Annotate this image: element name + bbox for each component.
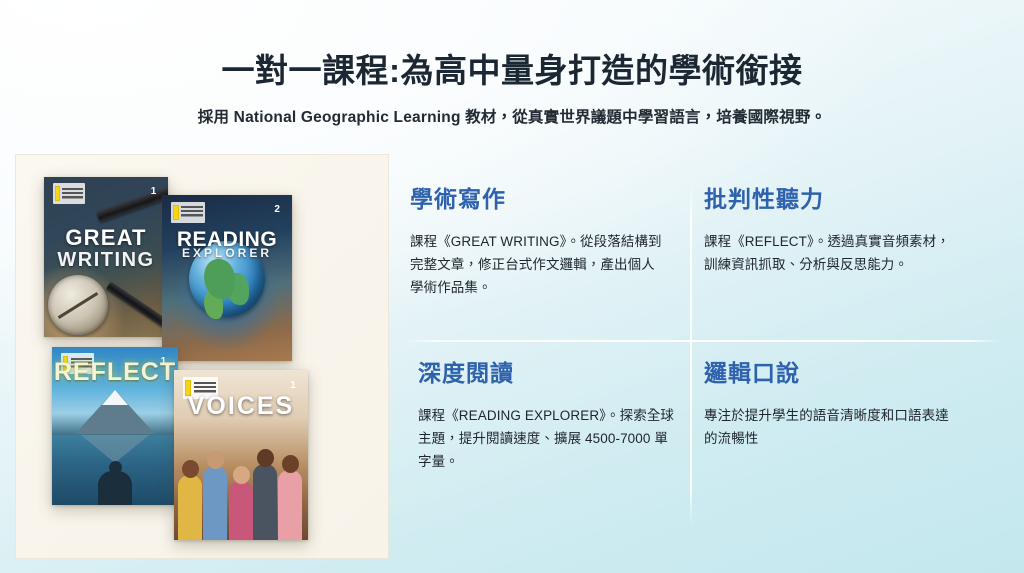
book-level-badge: 1 bbox=[147, 184, 161, 199]
book-cover-reflect: 1 REFLECT bbox=[52, 347, 178, 505]
book-title: VOICES bbox=[174, 392, 308, 421]
person-figure bbox=[278, 470, 302, 540]
slide-header: 一對一課程:為高中量身打造的學術銜接 採用 National Geographi… bbox=[0, 0, 1024, 129]
logo-text-lines bbox=[62, 188, 83, 200]
logo-text-lines bbox=[181, 206, 203, 218]
person-figure bbox=[253, 464, 277, 540]
feature-body: 課程《REFLECT》。透過真實音頻素材，訓練資訊抓取、分析與反思能力。 bbox=[704, 230, 962, 276]
people-group-illustration bbox=[174, 435, 308, 540]
feature-heading: 批判性聽力 bbox=[704, 186, 962, 214]
person-figure bbox=[178, 475, 202, 540]
feature-body: 專注於提升學生的語音清晰度和口語表達的流暢性 bbox=[704, 404, 962, 450]
book-cover-reading-explorer: 2 READING EXPLORER bbox=[162, 195, 292, 361]
vertical-divider bbox=[690, 182, 692, 526]
feature-grid: 學術寫作 課程《GREAT WRITING》。從段落結構到完整文章，修正台式作文… bbox=[404, 178, 1010, 528]
book-cover-great-writing: 1 GREAT WRITING bbox=[44, 177, 168, 337]
book-cover-voices: 1 VOICES bbox=[174, 370, 308, 540]
compass-icon bbox=[48, 275, 108, 335]
feature-heading: 學術寫作 bbox=[410, 186, 668, 214]
book-level-badge: 1 bbox=[286, 378, 300, 393]
books-panel: 1 GREAT WRITING 2 READING EXPLORER 1 REF… bbox=[16, 155, 388, 558]
book-level-badge: 2 bbox=[270, 202, 284, 217]
feature-deep-reading: 深度閱讀 課程《READING EXPLORER》。探索全球主題，提升閱讀速度、… bbox=[418, 360, 676, 473]
feature-logical-speaking: 邏輯口說 專注於提升學生的語音清晰度和口語表達的流暢性 bbox=[704, 360, 962, 450]
pen-icon bbox=[106, 282, 168, 332]
mountain-peak-icon bbox=[102, 390, 128, 405]
book-title: GREAT bbox=[44, 225, 168, 251]
book-title: REFLECT bbox=[52, 358, 178, 387]
book-subtitle: WRITING bbox=[44, 249, 168, 272]
hiker-silhouette-icon bbox=[98, 471, 132, 505]
feature-critical-listening: 批判性聽力 課程《REFLECT》。透過真實音頻素材，訓練資訊抓取、分析與反思能… bbox=[704, 186, 962, 276]
feature-body: 課程《GREAT WRITING》。從段落結構到完整文章，修正台式作文邏輯，產出… bbox=[410, 230, 668, 300]
national-geographic-logo-icon bbox=[53, 183, 85, 204]
feature-body: 課程《READING EXPLORER》。探索全球主題，提升閱讀速度、擴展 45… bbox=[418, 404, 676, 474]
person-figure bbox=[203, 466, 227, 540]
page-title: 一對一課程:為高中量身打造的學術銜接 bbox=[0, 0, 1024, 92]
feature-heading: 邏輯口說 bbox=[704, 360, 962, 388]
feature-heading: 深度閱讀 bbox=[418, 360, 676, 388]
book-subtitle: EXPLORER bbox=[162, 246, 292, 260]
page-subtitle: 採用 National Geographic Learning 教材，從真實世界… bbox=[0, 92, 1024, 129]
national-geographic-logo-icon bbox=[171, 202, 205, 224]
horizontal-divider bbox=[404, 340, 1002, 342]
slide-root: 一對一課程:為高中量身打造的學術銜接 採用 National Geographi… bbox=[0, 0, 1024, 573]
feature-academic-writing: 學術寫作 課程《GREAT WRITING》。從段落結構到完整文章，修正台式作文… bbox=[410, 186, 668, 299]
person-figure bbox=[229, 481, 253, 540]
